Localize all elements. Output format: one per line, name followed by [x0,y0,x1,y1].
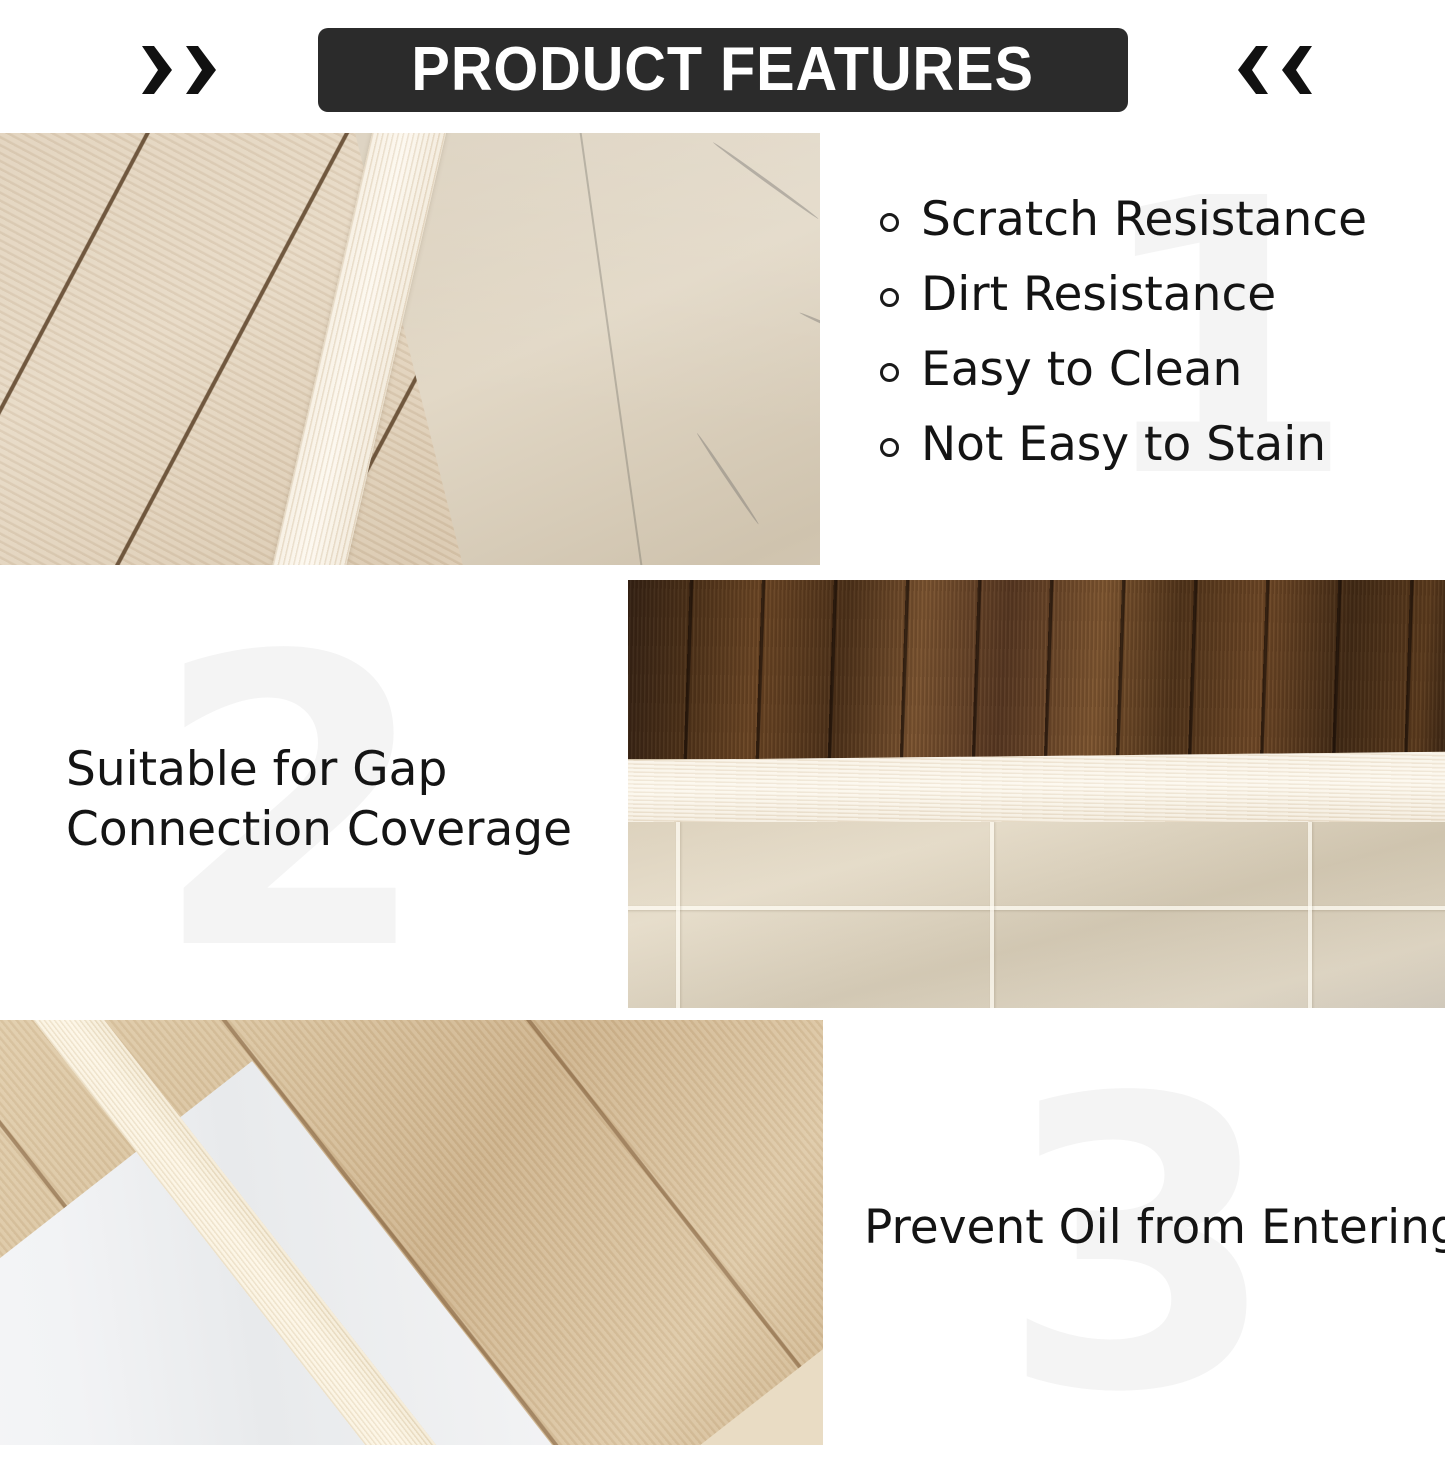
chevron-right-icon [184,44,218,96]
circle-bullet-icon [880,363,899,382]
feature-photo-1 [0,133,820,565]
caption-line: Suitable for Gap [66,740,626,800]
feature-caption-3: Prevent Oil from Entering [864,1200,1424,1256]
tile-grout-line [676,822,680,1008]
caption-line: Connection Coverage [66,800,626,860]
tile-grout-line [1308,822,1312,1008]
tile-grout-line [628,906,1445,910]
marble-vein [696,432,760,525]
tile-grout-line [990,822,994,1008]
header-banner: PRODUCT FEATURES [0,0,1445,133]
feature-label: Scratch Resistance [921,196,1367,243]
marble-vein [713,141,820,220]
circle-bullet-icon [880,438,899,457]
chevron-left-icon [1280,44,1314,96]
caption-line: Prevent Oil from Entering [864,1200,1424,1256]
travertine-tile-surface [628,822,1445,1008]
dark-wood-plank-surface [628,580,1445,759]
feature-photo-3 [0,1020,823,1445]
double-chevron-right-icon [140,44,218,96]
circle-bullet-icon [880,288,899,307]
double-chevron-left-icon [1236,44,1314,96]
list-item: Scratch Resistance [880,196,1400,243]
marble-vein [799,311,820,376]
page-title-plate: PRODUCT FEATURES [318,28,1128,112]
list-item: Dirt Resistance [880,271,1400,318]
page-title: PRODUCT FEATURES [412,39,1034,101]
chevron-right-icon [140,44,174,96]
list-item: Easy to Clean [880,346,1400,393]
circle-bullet-icon [880,213,899,232]
chevron-left-icon [1236,44,1270,96]
feature-caption-2: Suitable for Gap Connection Coverage [66,740,626,860]
feature-label: Dirt Resistance [921,271,1276,318]
transition-strip [628,752,1445,833]
feature-list: Scratch Resistance Dirt Resistance Easy … [880,196,1400,496]
feature-photo-2 [628,580,1445,1008]
feature-label: Not Easy to Stain [921,421,1326,468]
feature-label: Easy to Clean [921,346,1242,393]
list-item: Not Easy to Stain [880,421,1400,468]
